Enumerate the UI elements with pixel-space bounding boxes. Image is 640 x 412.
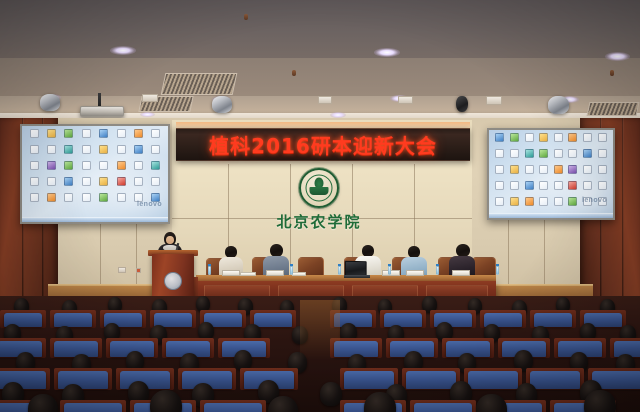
document-stack [292, 272, 306, 276]
desktop-icon [583, 181, 592, 190]
stage-spotlight-icon [548, 96, 569, 114]
desktop-icon [554, 197, 563, 206]
downlight-icon [605, 52, 630, 61]
desktop-icon [554, 149, 563, 158]
downlight-icon [374, 48, 400, 57]
sprinkler-icon [292, 70, 296, 76]
document-stack [240, 272, 256, 276]
water-bottle [496, 266, 499, 275]
desktop-icon [30, 161, 39, 170]
desktop-icon [568, 181, 577, 190]
audience-head [476, 394, 507, 412]
name-card [222, 270, 240, 276]
hvac-vent [587, 102, 640, 116]
ceiling-camera-icon [486, 96, 502, 105]
desktop-icon [134, 129, 143, 138]
desktop-icon [539, 197, 548, 206]
water-bottle [338, 266, 341, 275]
audience-seat[interactable] [344, 371, 394, 389]
audience-head [268, 396, 298, 412]
desktop-icon [30, 145, 39, 154]
desktop-icon [64, 193, 73, 202]
desktop-icon [82, 161, 91, 170]
ceiling-speaker-icon [456, 96, 468, 112]
desktop-icon [99, 145, 108, 154]
sprinkler-icon [610, 70, 614, 76]
banner-title-text: 植科2016研本迎新大会 [209, 130, 437, 159]
desktop-icon [134, 145, 143, 154]
desktop-icon [495, 149, 504, 158]
desktop-icon [554, 181, 563, 190]
university-name-calligraphy: 北京农学院 [276, 210, 362, 232]
hvac-vent [161, 73, 238, 95]
desktop-icon [525, 149, 534, 158]
event-banner: 植科2016研本迎新大会 [176, 128, 470, 161]
downlight-icon [110, 46, 136, 55]
desktop-icon [99, 129, 108, 138]
audience-seat[interactable] [254, 313, 292, 327]
auditorium-photo: 植科2016研本迎新大会 北京农学院 [0, 0, 640, 412]
desktop-icon [151, 161, 160, 170]
desktop-icon [64, 145, 73, 154]
bottle-cap [436, 264, 439, 266]
desktop-icon [495, 197, 504, 206]
name-card [452, 270, 470, 276]
ceiling-projector [80, 106, 124, 117]
water-bottle [388, 266, 391, 275]
desktop-icon [510, 165, 519, 174]
desktop-icon [598, 181, 607, 190]
audience-seat[interactable] [204, 403, 262, 412]
water-bottle [436, 266, 439, 275]
desktop-icon [583, 149, 592, 158]
desktop-icon [583, 165, 592, 174]
desktop-icon [525, 197, 534, 206]
bottle-cap [290, 264, 293, 266]
water-bottle [290, 266, 293, 275]
wall-outlet-icon [118, 267, 126, 273]
desktop-icon [117, 129, 126, 138]
desktop-icon [539, 149, 548, 158]
ceiling-camera-icon [398, 96, 413, 104]
desktop-icon [64, 161, 73, 170]
desktop-icon [568, 165, 577, 174]
audience-seat[interactable] [64, 403, 122, 412]
desktop-icon [30, 177, 39, 186]
name-card [406, 270, 424, 276]
desktop-icon [598, 149, 607, 158]
desktop-icon [495, 181, 504, 190]
downlight-icon [140, 112, 155, 117]
ceiling-mid-plane [0, 58, 640, 100]
desktop-icon [99, 177, 108, 186]
desktop-icon [568, 149, 577, 158]
audience-head [320, 382, 342, 406]
desktop-icon [151, 145, 160, 154]
desktop-icon [82, 193, 91, 202]
desktop-icon [47, 193, 56, 202]
desktop-icon [539, 181, 548, 190]
desktop-icon [495, 133, 504, 142]
desktop-icon [117, 161, 126, 170]
audience-head [150, 390, 182, 412]
desktop-icon [117, 145, 126, 154]
lenovo-watermark: lenovo [582, 197, 607, 204]
wood-seam [622, 118, 624, 303]
water-bottle [208, 266, 211, 275]
laptop-screen [345, 261, 367, 276]
desktop-icon [117, 177, 126, 186]
desktop-icon [510, 133, 519, 142]
bottle-cap [338, 264, 341, 266]
taskbar [22, 217, 168, 222]
audience-seat[interactable] [534, 313, 572, 327]
ceiling-camera-icon [142, 94, 158, 102]
desktop-icon [539, 133, 548, 142]
audience-seat[interactable] [414, 403, 472, 412]
bottle-cap [208, 264, 211, 266]
right-projection-screen: lenovo [487, 128, 615, 220]
audience-seat[interactable] [406, 371, 456, 389]
desktop-icon [510, 149, 519, 158]
podium-crest-icon [164, 272, 182, 290]
desktop-icon [583, 133, 592, 142]
desktop-icon [99, 193, 108, 202]
desktop-icon [525, 181, 534, 190]
desktop-icon [598, 133, 607, 142]
desktop-icon [568, 197, 577, 206]
seal-book-motif [310, 187, 329, 195]
desktop-icon [525, 165, 534, 174]
desktop-icon [134, 161, 143, 170]
audience-head [28, 394, 58, 412]
name-card [382, 270, 400, 276]
desktop-icon [598, 165, 607, 174]
desktop-icon [47, 177, 56, 186]
name-card [266, 270, 284, 276]
desktop-icon [30, 193, 39, 202]
desktop-icon [64, 129, 73, 138]
desktop-icon [82, 145, 91, 154]
audience-seat[interactable] [54, 313, 92, 327]
bottle-cap [388, 264, 391, 266]
desktop-icon [510, 181, 519, 190]
lenovo-watermark: lenovo [137, 201, 162, 208]
desktop-icon [47, 145, 56, 154]
desktop-icon [117, 193, 126, 202]
desktop-icon [539, 165, 548, 174]
desktop-icon [64, 177, 73, 186]
audience-seat[interactable] [468, 371, 518, 389]
right-screen-desktop: lenovo [489, 130, 613, 218]
audience-head [234, 350, 252, 370]
audience-seat[interactable] [530, 371, 580, 389]
stage-spotlight-icon [40, 94, 60, 111]
standing-speaker-face [166, 236, 174, 244]
wall-outlet-icon [136, 268, 141, 273]
audience-seat[interactable] [384, 313, 422, 327]
desktop-icon [568, 133, 577, 142]
taskbar [489, 213, 613, 218]
center-aisle [300, 300, 340, 360]
university-seal-icon [299, 168, 339, 208]
ceiling-upper-plane [0, 0, 640, 60]
desktop-icon [134, 177, 143, 186]
left-screen-desktop: lenovo [22, 126, 168, 222]
desktop-icon [151, 177, 160, 186]
desktop-icon [525, 133, 534, 142]
desktop-icon [510, 197, 519, 206]
desktop-icon [82, 129, 91, 138]
sprinkler-icon [244, 14, 248, 20]
desktop-icon [47, 161, 56, 170]
desktop-icon [99, 161, 108, 170]
laptop-base [344, 275, 370, 278]
desktop-icon [554, 165, 563, 174]
desktop-icon [495, 165, 504, 174]
bottle-cap [496, 264, 499, 266]
left-projection-screen: lenovo [20, 124, 170, 224]
desktop-icon [47, 129, 56, 138]
audience-head [584, 390, 616, 412]
desktop-icon [82, 177, 91, 186]
ceiling-camera-icon [318, 96, 332, 104]
desktop-icon [30, 129, 39, 138]
desktop-icon [554, 133, 563, 142]
desktop-icon [151, 129, 160, 138]
stage-spotlight-icon [212, 96, 232, 113]
